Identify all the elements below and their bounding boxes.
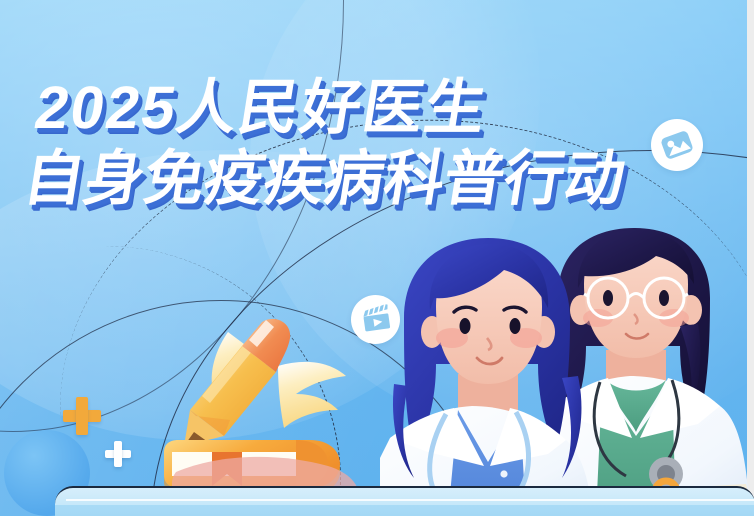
- video-badge[interactable]: 视频: [351, 295, 400, 344]
- image-icon: [660, 128, 694, 162]
- photo-badge[interactable]: 图片: [651, 119, 703, 171]
- desk-highlight-line: [66, 499, 754, 501]
- desk-surface: [55, 486, 754, 516]
- orange-plus-icon: [63, 397, 101, 435]
- poster-banner: 图片 视频 2025人民好医生 自身免疫疾病科普行动: [0, 0, 754, 516]
- doctor-left-eye-right: [510, 318, 521, 334]
- doctor-right-eye-left: [603, 290, 613, 306]
- poster-title: 2025人民好医生 自身免疫疾病科普行动: [20, 78, 641, 209]
- white-plus-icon: [105, 441, 131, 467]
- doctor-right-eye-right: [659, 290, 669, 306]
- video-clapperboard-icon: [360, 304, 392, 336]
- pencil-wing-right: [278, 362, 346, 428]
- title-line-1: 2025人民好医生: [31, 78, 641, 138]
- title-line-2: 自身免疫疾病科普行动: [20, 149, 630, 209]
- doctor-left-button-1: [500, 470, 507, 477]
- doctor-left-eye-left: [460, 318, 471, 334]
- doctor-left: [380, 238, 592, 516]
- two-doctors-illustration: [380, 226, 754, 516]
